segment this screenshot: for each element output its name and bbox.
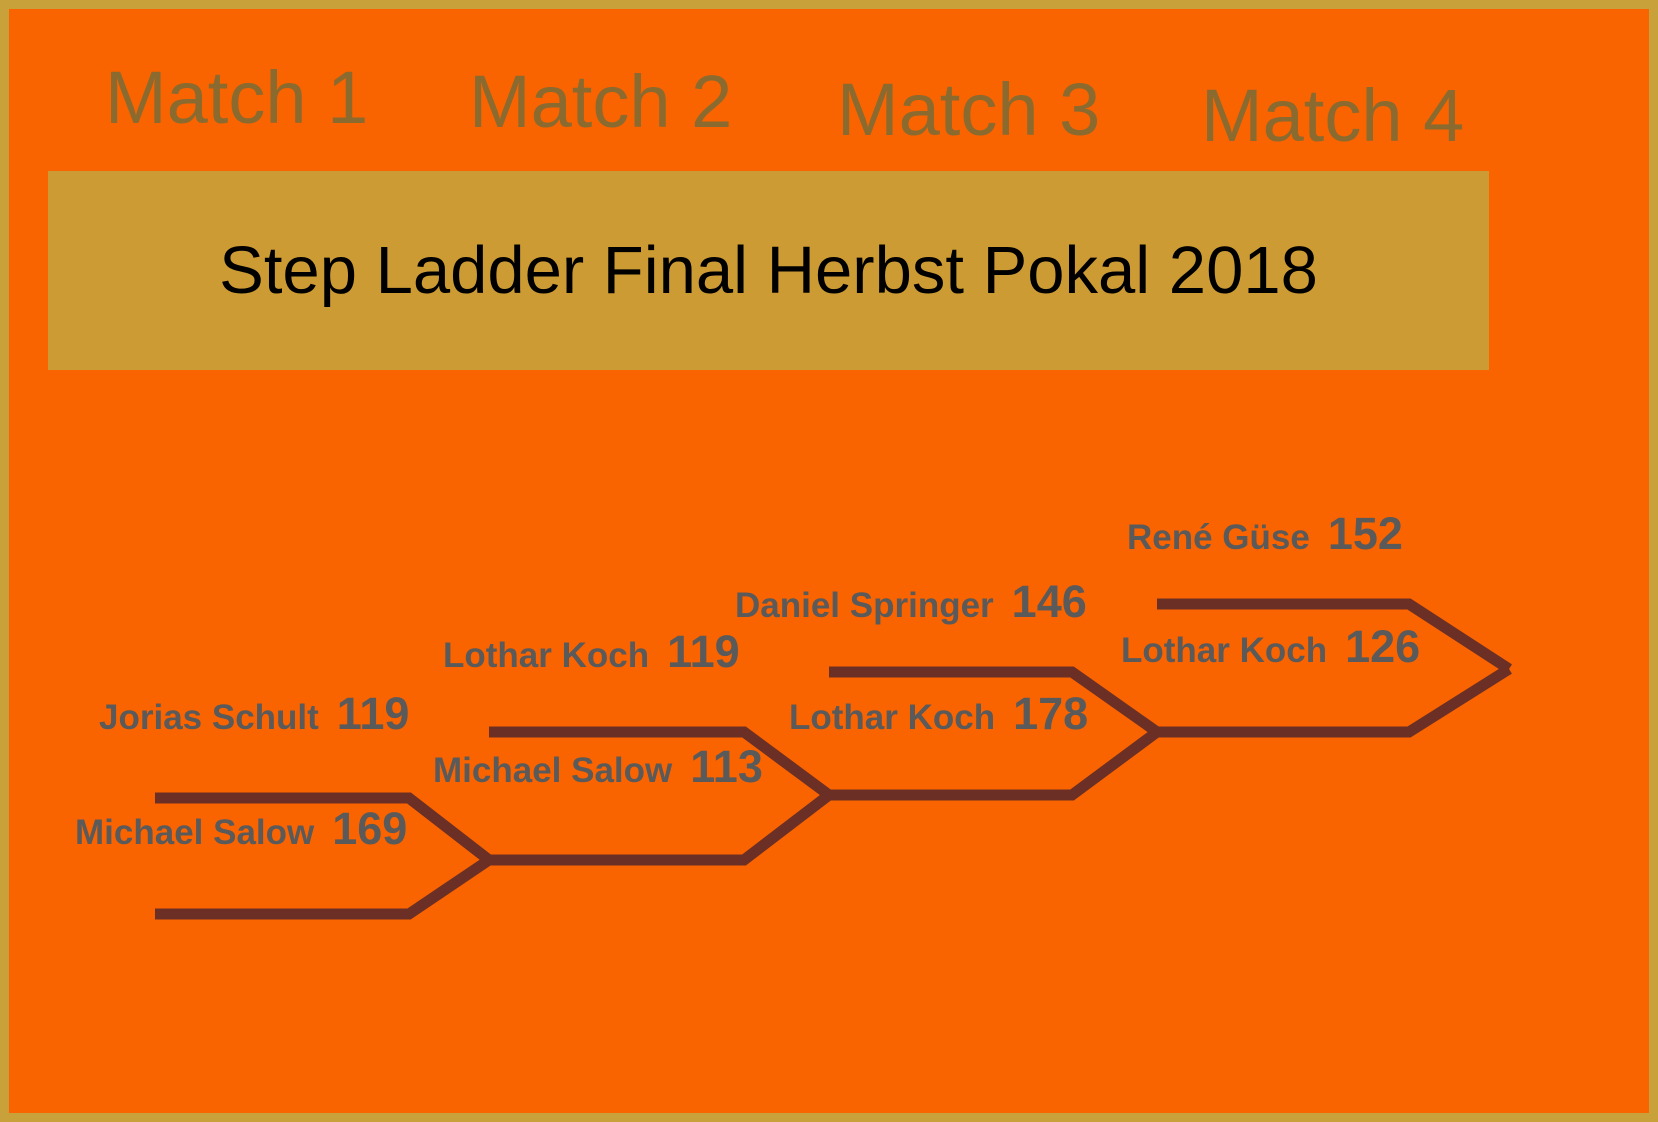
player-score: 146 [1012, 576, 1087, 627]
bracket-entry-m4-top: René Güse152 [1127, 511, 1403, 556]
bracket-entry-m3-top: Daniel Springer146 [735, 579, 1087, 624]
player-score: 152 [1328, 508, 1403, 559]
player-name: Lothar Koch [1121, 631, 1327, 670]
player-score: 169 [332, 803, 407, 854]
bracket-entry-m3-bottom: Lothar Koch178 [789, 691, 1088, 736]
player-name: René Güse [1127, 518, 1310, 557]
bracket-line-m3-bottom [829, 732, 1157, 795]
player-name: Lothar Koch [443, 636, 649, 675]
player-score: 113 [690, 741, 763, 792]
player-name: Jorias Schult [99, 698, 319, 737]
player-score: 126 [1345, 621, 1420, 672]
bracket-entry-m2-top: Lothar Koch119 [443, 629, 740, 674]
player-name: Lothar Koch [789, 698, 995, 737]
bracket-line-m2-bottom [489, 795, 829, 860]
bracket-lines [9, 9, 1658, 1122]
bracket-line-m1-bottom [155, 860, 489, 914]
player-name: Michael Salow [433, 751, 672, 790]
player-name: Daniel Springer [735, 586, 994, 625]
bracket-entry-m2-bottom: Michael Salow113 [433, 744, 763, 789]
bracket-line-m4-bottom [1157, 669, 1509, 732]
bracket-entry-m1-bottom: Michael Salow169 [75, 806, 407, 851]
bracket-entry-m4-bottom: Lothar Koch126 [1121, 624, 1420, 669]
bracket-canvas: Match 1 Match 2 Match 3 Match 4 Step Lad… [0, 0, 1658, 1122]
player-score: 178 [1013, 688, 1088, 739]
player-score: 119 [667, 626, 740, 677]
player-name: Michael Salow [75, 813, 314, 852]
player-score: 119 [337, 688, 410, 739]
bracket-entry-m1-top: Jorias Schult119 [99, 691, 409, 736]
